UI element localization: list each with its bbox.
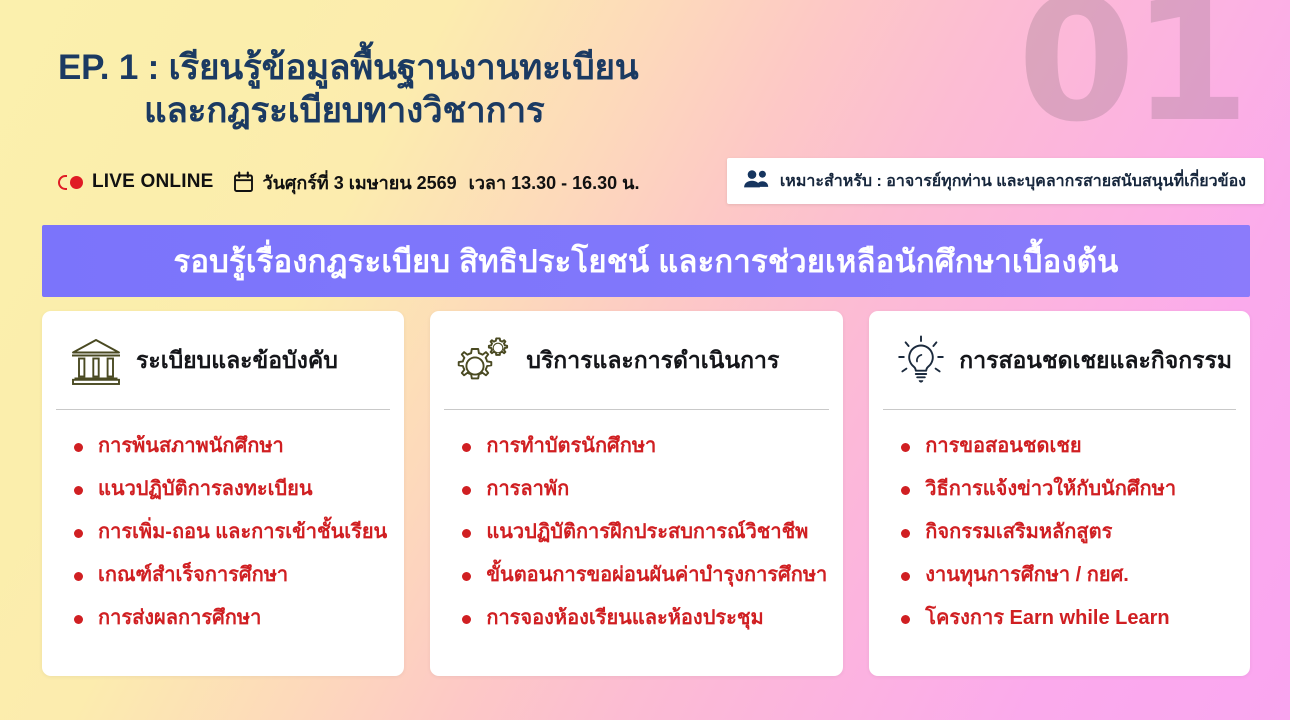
card-title: บริการและการดำเนินการ (526, 347, 779, 375)
audience-text: เหมาะสำหรับ : อาจารย์ทุกท่าน และบุคลากรส… (780, 169, 1246, 194)
session-time: เวลา 13.30 - 16.30 น. (469, 168, 640, 197)
card-header: บริการและการดำเนินการ (430, 311, 843, 409)
session-date: วันศุกร์ที่ 3 เมษายน 2569 (263, 168, 457, 197)
bank-building-icon (68, 333, 124, 389)
card-body: การขอสอนชดเชย วิธีการแจ้งข่าวให้กับนักศึ… (869, 410, 1250, 676)
title-line-1: EP. 1 : เรียนรู้ข้อมูลพื้นฐานงานทะเบียน (58, 46, 818, 89)
list-item: แนวปฏิบัติการลงทะเบียน (72, 477, 388, 502)
card-header: ระเบียบและข้อบังคับ (42, 311, 404, 409)
topic-list: การทำบัตรนักศึกษา การลาพัก แนวปฏิบัติการ… (460, 434, 827, 631)
live-online-label: LIVE ONLINE (92, 171, 214, 193)
broadcast-icon (58, 175, 83, 190)
session-meta-row: LIVE ONLINE วันศุกร์ที่ 3 เมษายน 2569 เว… (58, 165, 639, 199)
calendar-icon (233, 171, 254, 193)
list-item: งานทุนการศึกษา / กยศ. (899, 563, 1234, 588)
topic-banner: รอบรู้เรื่องกฎระเบียบ สิทธิประโยชน์ และก… (42, 225, 1250, 297)
title-line-2: และกฎระเบียบทางวิชาการ (58, 89, 818, 132)
list-item: โครงการ Earn while Learn (899, 606, 1234, 631)
people-icon (743, 169, 770, 194)
list-item: วิธีการแจ้งข่าวให้กับนักศึกษา (899, 477, 1234, 502)
topic-list: การขอสอนชดเชย วิธีการแจ้งข่าวให้กับนักศึ… (899, 434, 1234, 631)
list-item: การจองห้องเรียนและห้องประชุม (460, 606, 827, 631)
card-header: การสอนชดเชยและกิจกรรม (869, 311, 1250, 409)
topic-card-services: บริการและการดำเนินการ การทำบัตรนักศึกษา … (430, 311, 843, 676)
topic-card-regulations: ระเบียบและข้อบังคับ การพ้นสภาพนักศึกษา แ… (42, 311, 404, 676)
topic-banner-text: รอบรู้เรื่องกฎระเบียบ สิทธิประโยชน์ และก… (173, 236, 1118, 286)
topic-card-group: ระเบียบและข้อบังคับ การพ้นสภาพนักศึกษา แ… (42, 311, 1250, 676)
list-item: แนวปฏิบัติการฝึกประสบการณ์วิชาชีพ (460, 520, 827, 545)
topic-card-teaching: การสอนชดเชยและกิจกรรม การขอสอนชดเชย วิธี… (869, 311, 1250, 676)
list-item: กิจกรรมเสริมหลักสูตร (899, 520, 1234, 545)
card-title: การสอนชดเชยและกิจกรรม (959, 347, 1232, 375)
list-item: เกณฑ์สำเร็จการศึกษา (72, 563, 388, 588)
list-item: ขั้นตอนการขอผ่อนผันค่าบำรุงการศึกษา (460, 563, 827, 588)
card-body: การทำบัตรนักศึกษา การลาพัก แนวปฏิบัติการ… (430, 410, 843, 676)
lightbulb-icon (895, 333, 947, 389)
topic-list: การพ้นสภาพนักศึกษา แนวปฏิบัติการลงทะเบีย… (72, 434, 388, 631)
episode-number-watermark: 01 (1017, 0, 1246, 146)
card-title: ระเบียบและข้อบังคับ (136, 347, 338, 375)
list-item: การเพิ่ม-ถอน และการเข้าชั้นเรียน (72, 520, 388, 545)
gears-icon (456, 333, 514, 389)
list-item: การพ้นสภาพนักศึกษา (72, 434, 388, 459)
page-title: EP. 1 : เรียนรู้ข้อมูลพื้นฐานงานทะเบียน … (58, 46, 818, 132)
card-body: การพ้นสภาพนักศึกษา แนวปฏิบัติการลงทะเบีย… (42, 410, 404, 676)
list-item: การส่งผลการศึกษา (72, 606, 388, 631)
list-item: การทำบัตรนักศึกษา (460, 434, 827, 459)
list-item: การลาพัก (460, 477, 827, 502)
audience-badge: เหมาะสำหรับ : อาจารย์ทุกท่าน และบุคลากรส… (727, 158, 1264, 204)
list-item: การขอสอนชดเชย (899, 434, 1234, 459)
